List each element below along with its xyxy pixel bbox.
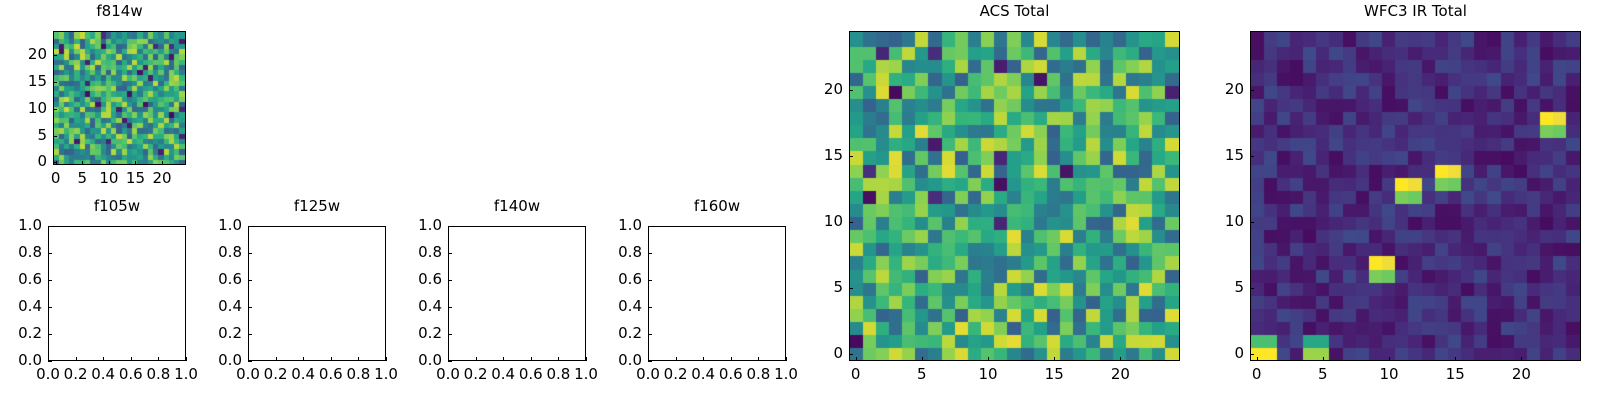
yticklabel-f125w-2: 0.4 xyxy=(186,299,242,314)
xticklabel-wfc3_ir_total-2: 10 xyxy=(1369,367,1409,382)
xtick-f160w-4 xyxy=(758,357,759,361)
yticklabel-wfc3_ir_total-1: 5 xyxy=(1188,280,1244,295)
yticklabel-acs_total-1: 5 xyxy=(787,280,843,295)
yticklabel-f140w-0: 0.0 xyxy=(386,353,442,368)
yticklabel-f140w-1: 0.2 xyxy=(386,326,442,341)
xticklabel-acs_total-0: 0 xyxy=(836,367,876,382)
panel-title-wfc3_ir_total: WFC3 IR Total xyxy=(1250,4,1581,19)
yticklabel-f140w-5: 1.0 xyxy=(386,218,442,233)
xticklabel-wfc3_ir_total-0: 0 xyxy=(1237,367,1277,382)
ytick-f105w-3 xyxy=(48,280,52,281)
yticklabel-f140w-2: 0.4 xyxy=(386,299,442,314)
yticklabel-acs_total-2: 10 xyxy=(787,214,843,229)
ytick-wfc3_ir_total-4 xyxy=(1250,90,1254,91)
xtick-acs_total-0 xyxy=(856,357,857,361)
ytick-f160w-1 xyxy=(648,334,652,335)
xtick-acs_total-2 xyxy=(988,357,989,361)
panel-f140w: f140w0.00.20.40.60.81.00.00.20.40.60.81.… xyxy=(388,0,596,400)
xtick-f140w-3 xyxy=(531,357,532,361)
ytick-f105w-2 xyxy=(48,307,52,308)
ytick-f125w-1 xyxy=(248,334,252,335)
xtick-f140w-1 xyxy=(476,357,477,361)
yticklabel-f105w-1: 0.2 xyxy=(0,326,42,341)
ytick-wfc3_ir_total-3 xyxy=(1250,156,1254,157)
ytick-acs_total-1 xyxy=(849,288,853,289)
ytick-wfc3_ir_total-1 xyxy=(1250,288,1254,289)
panel-title-f105w: f105w xyxy=(48,199,186,214)
xtick-f125w-1 xyxy=(276,357,277,361)
yticklabel-f105w-0: 0.0 xyxy=(0,353,42,368)
yticklabel-f160w-3: 0.6 xyxy=(586,272,642,287)
xtick-f125w-2 xyxy=(303,357,304,361)
yticklabel-acs_total-4: 20 xyxy=(787,82,843,97)
yticklabel-f105w-4: 0.8 xyxy=(0,245,42,260)
ytick-f105w-5 xyxy=(48,226,52,227)
yticklabel-wfc3_ir_total-2: 10 xyxy=(1188,214,1244,229)
yticklabel-f125w-0: 0.0 xyxy=(186,353,242,368)
ytick-f140w-5 xyxy=(448,226,452,227)
axes-acs_total xyxy=(849,31,1180,361)
xtick-f125w-4 xyxy=(358,357,359,361)
xticklabel-wfc3_ir_total-1: 5 xyxy=(1303,367,1343,382)
xtick-wfc3_ir_total-2 xyxy=(1389,357,1390,361)
xticklabel-wfc3_ir_total-4: 20 xyxy=(1501,367,1541,382)
yticklabel-f160w-1: 0.2 xyxy=(586,326,642,341)
panel-title-f125w: f125w xyxy=(248,199,386,214)
xtick-f140w-2 xyxy=(503,357,504,361)
ytick-f125w-3 xyxy=(248,280,252,281)
panel-title-f140w: f140w xyxy=(448,199,586,214)
ytick-f125w-2 xyxy=(248,307,252,308)
yticklabel-f125w-1: 0.2 xyxy=(186,326,242,341)
xtick-f160w-3 xyxy=(731,357,732,361)
axes-f105w xyxy=(48,226,186,361)
xtick-acs_total-3 xyxy=(1054,357,1055,361)
panel-wfc3_ir_total: WFC3 IR Total0510152005101520 xyxy=(1190,0,1591,400)
ytick-wfc3_ir_total-0 xyxy=(1250,354,1254,355)
yticklabel-f160w-0: 0.0 xyxy=(586,353,642,368)
yticklabel-f160w-4: 0.8 xyxy=(586,245,642,260)
ytick-wfc3_ir_total-2 xyxy=(1250,222,1254,223)
xticklabel-acs_total-1: 5 xyxy=(902,367,942,382)
xticklabel-acs_total-4: 20 xyxy=(1100,367,1140,382)
ytick-f140w-4 xyxy=(448,253,452,254)
ytick-acs_total-4 xyxy=(849,90,853,91)
yticklabel-acs_total-3: 15 xyxy=(787,148,843,163)
ytick-f140w-3 xyxy=(448,280,452,281)
xtick-wfc3_ir_total-3 xyxy=(1455,357,1456,361)
ytick-f160w-4 xyxy=(648,253,652,254)
xtick-f105w-2 xyxy=(103,357,104,361)
ytick-f105w-4 xyxy=(48,253,52,254)
ytick-f125w-4 xyxy=(248,253,252,254)
ytick-acs_total-3 xyxy=(849,156,853,157)
ytick-f125w-5 xyxy=(248,226,252,227)
ytick-f105w-1 xyxy=(48,334,52,335)
yticklabel-wfc3_ir_total-4: 20 xyxy=(1188,82,1244,97)
panel-f125w: f125w0.00.20.40.60.81.00.00.20.40.60.81.… xyxy=(188,0,396,400)
xtick-acs_total-1 xyxy=(922,357,923,361)
xtick-f105w-4 xyxy=(158,357,159,361)
yticklabel-f140w-3: 0.6 xyxy=(386,272,442,287)
panel-f105w: f105w0.00.20.40.60.81.00.00.20.40.60.81.… xyxy=(0,0,196,400)
panel-title-acs_total: ACS Total xyxy=(849,4,1180,19)
heatmap-image-acs_total xyxy=(850,32,1179,360)
yticklabel-acs_total-0: 0 xyxy=(787,346,843,361)
ytick-f140w-0 xyxy=(448,361,452,362)
axes-f140w xyxy=(448,226,586,361)
yticklabel-f125w-4: 0.8 xyxy=(186,245,242,260)
xtick-f140w-4 xyxy=(558,357,559,361)
axes-f160w xyxy=(648,226,786,361)
xtick-f105w-1 xyxy=(76,357,77,361)
ytick-f105w-0 xyxy=(48,361,52,362)
xticklabel-wfc3_ir_total-3: 15 xyxy=(1435,367,1475,382)
ytick-f160w-0 xyxy=(648,361,652,362)
ytick-acs_total-0 xyxy=(849,354,853,355)
axes-f125w xyxy=(248,226,386,361)
yticklabel-f160w-5: 1.0 xyxy=(586,218,642,233)
xtick-acs_total-4 xyxy=(1120,357,1121,361)
heatmap-image-wfc3_ir_total xyxy=(1251,32,1580,360)
panel-title-f160w: f160w xyxy=(648,199,786,214)
ytick-acs_total-2 xyxy=(849,222,853,223)
xticklabel-acs_total-3: 15 xyxy=(1034,367,1074,382)
ytick-f140w-1 xyxy=(448,334,452,335)
yticklabel-f140w-4: 0.8 xyxy=(386,245,442,260)
xtick-wfc3_ir_total-1 xyxy=(1323,357,1324,361)
xtick-f125w-3 xyxy=(331,357,332,361)
xtick-f160w-1 xyxy=(676,357,677,361)
yticklabel-f105w-5: 1.0 xyxy=(0,218,42,233)
xtick-f160w-2 xyxy=(703,357,704,361)
ytick-f140w-2 xyxy=(448,307,452,308)
ytick-f160w-2 xyxy=(648,307,652,308)
ytick-f125w-0 xyxy=(248,361,252,362)
xtick-f105w-3 xyxy=(131,357,132,361)
yticklabel-f160w-2: 0.4 xyxy=(586,299,642,314)
yticklabel-f125w-3: 0.6 xyxy=(186,272,242,287)
xtick-wfc3_ir_total-4 xyxy=(1521,357,1522,361)
xtick-wfc3_ir_total-0 xyxy=(1257,357,1258,361)
axes-wfc3_ir_total xyxy=(1250,31,1581,361)
panel-acs_total: ACS Total0510152005101520 xyxy=(789,0,1190,400)
xticklabel-acs_total-2: 10 xyxy=(968,367,1008,382)
ytick-f160w-5 xyxy=(648,226,652,227)
yticklabel-wfc3_ir_total-3: 15 xyxy=(1188,148,1244,163)
yticklabel-f125w-5: 1.0 xyxy=(186,218,242,233)
yticklabel-f105w-2: 0.4 xyxy=(0,299,42,314)
yticklabel-f105w-3: 0.6 xyxy=(0,272,42,287)
panel-f160w: f160w0.00.20.40.60.81.00.00.20.40.60.81.… xyxy=(588,0,796,400)
ytick-f160w-3 xyxy=(648,280,652,281)
yticklabel-wfc3_ir_total-0: 0 xyxy=(1188,346,1244,361)
